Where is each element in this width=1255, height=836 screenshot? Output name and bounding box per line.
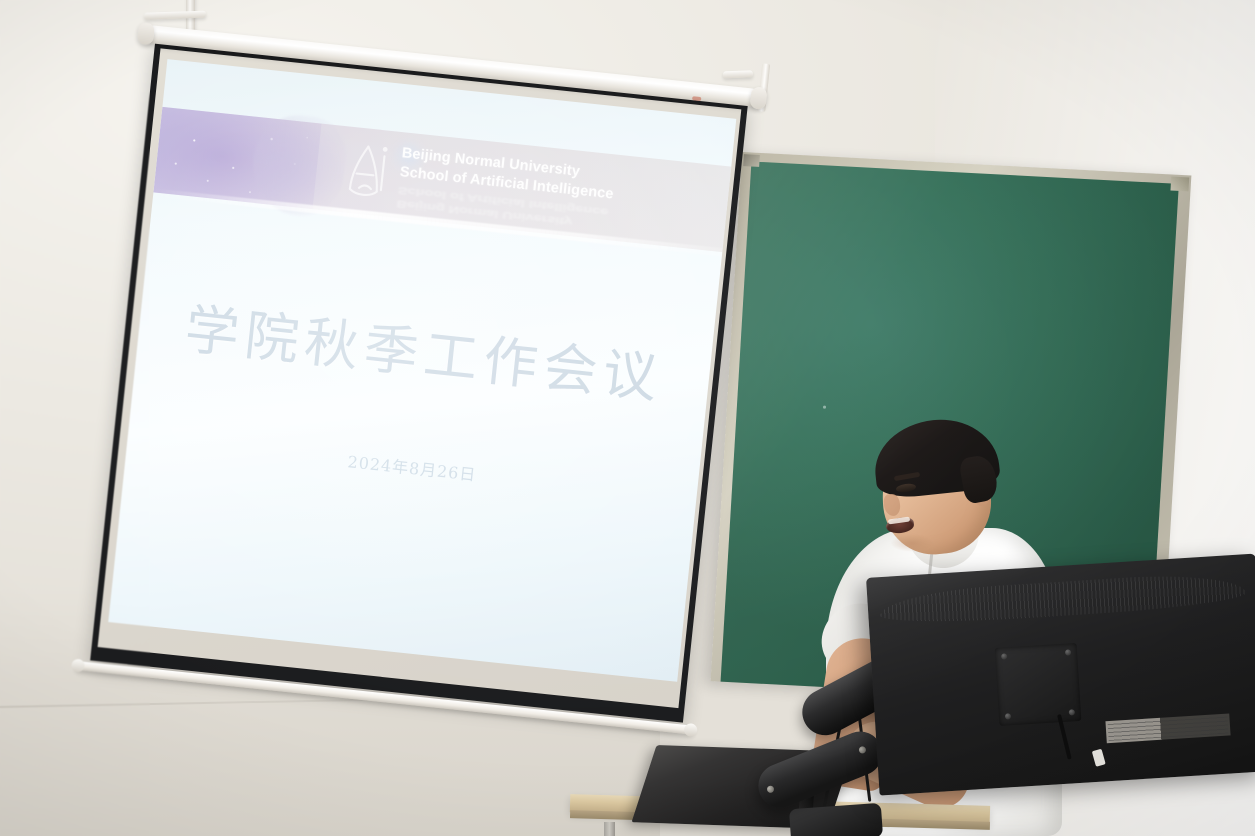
monitor-rating-label: [1105, 713, 1230, 743]
chalkboard-corner-bracket-top-right: [1170, 177, 1189, 192]
monitor-vent-grille: [879, 570, 1246, 627]
vesa-screw: [1065, 649, 1071, 655]
desk-leg: [604, 822, 615, 836]
ai-monogram-logo: [340, 136, 396, 203]
screen-black-border: Beijing Normal University School of Arti…: [90, 42, 748, 723]
vesa-screw: [1069, 709, 1075, 715]
vesa-screw: [1005, 713, 1011, 719]
monitor-vesa-mount-plate: [995, 643, 1082, 726]
screen-mount-bracket-right: [723, 70, 753, 78]
arm-rivet: [766, 785, 775, 794]
roller-label-mark: [692, 96, 701, 101]
weight-bar-cap-right: [684, 723, 698, 737]
cable-clip: [1092, 749, 1106, 767]
monitor-arm-base-clamp: [789, 803, 883, 836]
arm-rivet: [858, 745, 867, 754]
projected-slide: Beijing Normal University School of Arti…: [108, 59, 736, 682]
computer-monitor-rear[interactable]: [866, 554, 1255, 796]
chin-shadow: [890, 534, 934, 552]
vesa-screw: [1001, 653, 1007, 659]
classroom-photo-scene: Beijing Normal University School of Arti…: [0, 0, 1255, 836]
screen-fabric-margin: Beijing Normal University School of Arti…: [98, 48, 742, 708]
projector-screen-assembly: Beijing Normal University School of Arti…: [69, 14, 777, 757]
label-print-lines: [1108, 716, 1229, 741]
slide-header-band: Beijing Normal University School of Arti…: [153, 107, 731, 252]
slide-title: 学院秋季工作会议: [136, 280, 713, 418]
slide-date: 2024年8月26日: [126, 425, 697, 509]
